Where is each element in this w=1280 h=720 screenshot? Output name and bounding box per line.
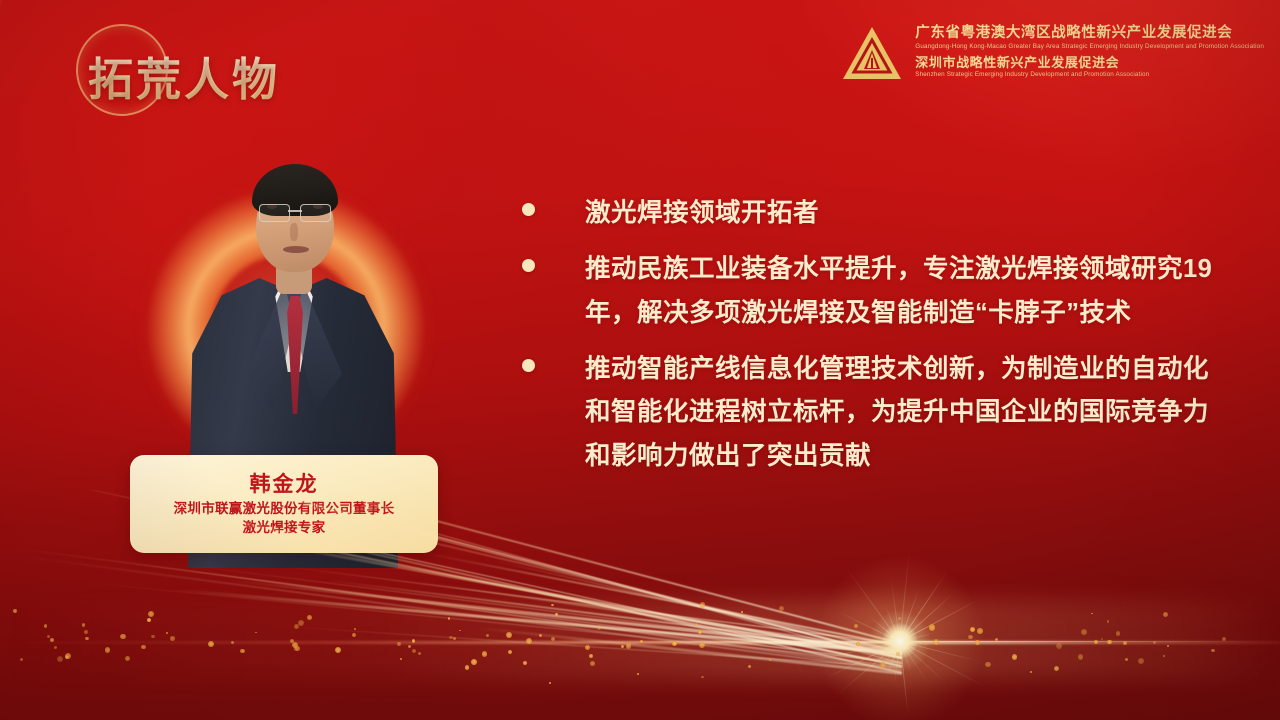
burst-star-icon (900, 641, 902, 643)
list-item: 激光焊接领域开拓者 (522, 192, 1222, 236)
profile-title-line-1: 深圳市联赢激光股份有限公司董事长 (174, 499, 395, 519)
logo-line-2: 深圳市战略性新兴产业发展促进会 Shenzhen Strategic Emerg… (915, 56, 1264, 80)
logo-line-1: 广东省粤港澳大湾区战略性新兴产业发展促进会 Guangdong-Hong Kon… (915, 26, 1264, 51)
bullet-dot-icon (522, 259, 535, 272)
list-item: 推动智能产线信息化管理技术创新，为制造业的自动化和智能化进程树立标杆，为提升中国… (522, 348, 1222, 480)
logo-line-2-en: Shenzhen Strategic Emerging Industry Dev… (915, 70, 1264, 79)
bullet-dot-icon (522, 359, 535, 372)
profile-title-line-2: 激光焊接专家 (243, 518, 326, 538)
profile-name: 韩金龙 (250, 472, 319, 498)
list-item: 推动民族工业装备水平提升，专注激光焊接领域研究19年，解决多项激光焊接及智能制造… (522, 248, 1222, 336)
logo-line-2-cn: 深圳市战略性新兴产业发展促进会 (915, 56, 1264, 70)
page-title: 拓荒人物 (88, 43, 280, 108)
slide-root: 拓荒人物 广东省粤港澳大湾区战略性新兴产业发展促进会 Guangdong-Hon… (0, 0, 1280, 720)
association-logo: 广东省粤港澳大湾区战略性新兴产业发展促进会 Guangdong-Hong Kon… (841, 24, 1264, 82)
list-item-text: 推动智能产线信息化管理技术创新，为制造业的自动化和智能化进程树立标杆，为提升中国… (585, 348, 1222, 480)
logo-line-1-cn: 广东省粤港澳大湾区战略性新兴产业发展促进会 (915, 26, 1264, 42)
logo-line-1-en: Guangdong-Hong Kong-Macao Greater Bay Ar… (915, 42, 1264, 51)
list-item-text: 推动民族工业装备水平提升，专注激光焊接领域研究19年，解决多项激光焊接及智能制造… (585, 248, 1222, 336)
logo-text-block: 广东省粤港澳大湾区战略性新兴产业发展促进会 Guangdong-Hong Kon… (915, 26, 1264, 79)
profile-name-card: 韩金龙 深圳市联赢激光股份有限公司董事长 激光焊接专家 (130, 455, 438, 553)
list-item-text: 激光焊接领域开拓者 (585, 192, 819, 236)
triangle-emblem-icon (841, 24, 903, 82)
achievements-list: 激光焊接领域开拓者 推动民族工业装备水平提升，专注激光焊接领域研究19年，解决多… (522, 192, 1222, 491)
bullet-dot-icon (522, 203, 535, 216)
